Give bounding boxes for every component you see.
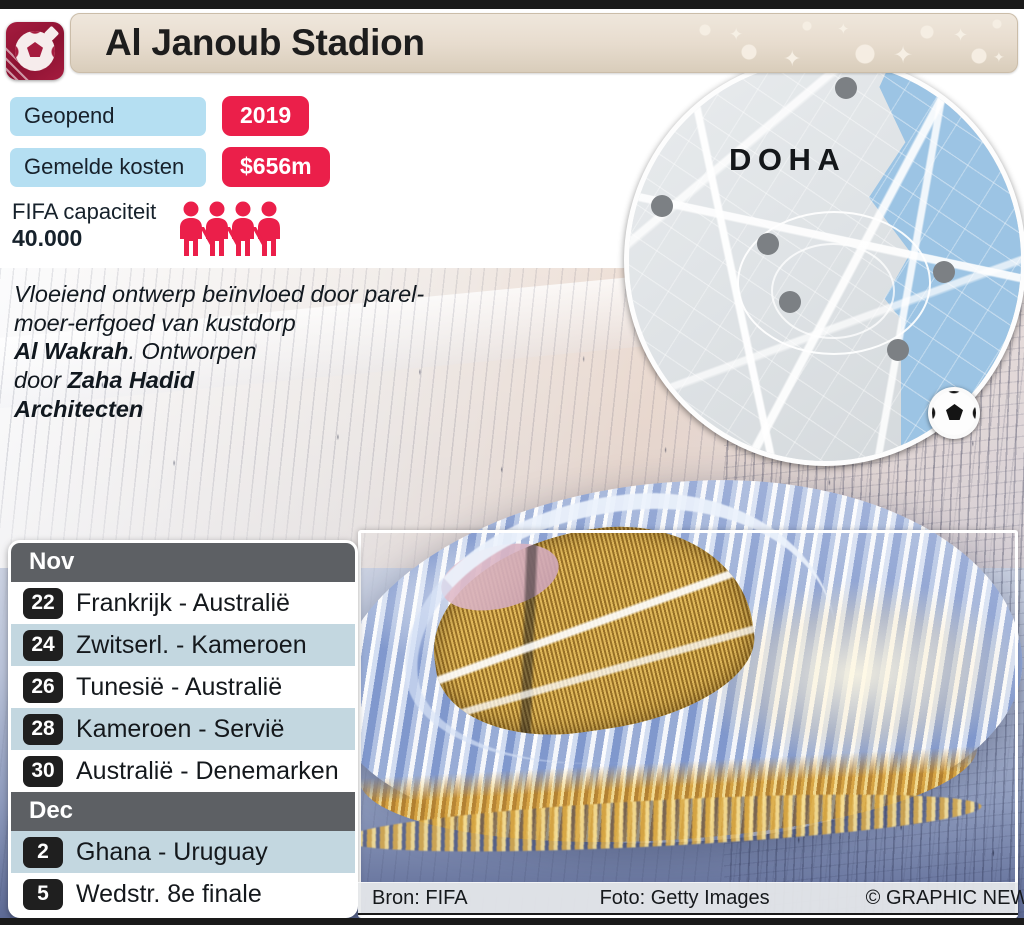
match-day-badge: 24 [23, 630, 63, 661]
match-fixture: Tunesië - Australië [76, 673, 282, 702]
credits-bar: Bron: FIFA Foto: Getty Images © GRAPHIC … [358, 882, 1018, 915]
page-title: Al Janoub Stadion [105, 14, 425, 72]
match-day-badge: 2 [23, 837, 63, 868]
fact-label: Geopend [10, 97, 206, 136]
capacity-label: FIFA capaciteit [12, 199, 156, 225]
table-row[interactable]: 22 Frankrijk - Australië [11, 582, 355, 624]
month-header-nov: Nov [11, 543, 355, 582]
description-architect-2: Architecten [14, 396, 143, 422]
map-stadium-dot[interactable] [757, 233, 779, 255]
description-architect: Zaha Hadid [68, 367, 195, 393]
match-fixture: Wedstr. 8e finale [76, 880, 262, 909]
header-decoration: ✦ ✦ ✦ ✦ ✦ ✦ [687, 14, 1017, 72]
match-fixture: Australië - Denemarken [76, 757, 339, 786]
month-header-dec: Dec [11, 792, 355, 831]
star-icon: ✦ [729, 26, 743, 43]
table-row[interactable]: 2 Ghana - Uruguay [11, 831, 355, 873]
match-day-badge: 22 [23, 588, 63, 619]
fact-value: $656m [222, 147, 330, 187]
table-row[interactable]: 5 Wedstr. 8e finale [11, 873, 355, 915]
capacity-block: FIFA capaciteit 40.000 [12, 199, 620, 262]
match-schedule-panel: Nov 22 Frankrijk - Australië 24 Zwitserl… [8, 540, 358, 918]
fact-row-opened: Geopend 2019 [10, 96, 620, 136]
fact-row-cost: Gemelde kosten $656m [10, 147, 620, 187]
top-rule [0, 0, 1024, 9]
match-day-badge: 28 [23, 714, 63, 745]
star-icon: ✦ [953, 26, 968, 44]
fact-label: Gemelde kosten [10, 148, 206, 187]
match-fixture: Zwitserl. - Kameroen [76, 631, 307, 660]
star-icon: ✦ [837, 22, 850, 37]
match-fixture: Kameroen - Servië [76, 715, 284, 744]
description-village: Al Wakrah [14, 338, 129, 364]
soccer-ball-marker-icon[interactable] [928, 387, 980, 439]
star-icon: ✦ [993, 50, 1005, 64]
map-stadium-dot[interactable] [779, 291, 801, 313]
qatar-football-logo-icon [6, 22, 64, 80]
people-group-icon [178, 201, 282, 262]
match-day-badge: 5 [23, 879, 63, 910]
soccer-ball-shape [932, 391, 976, 435]
map-city-label: DOHA [729, 142, 846, 178]
bottom-rule [0, 918, 1024, 925]
infographic-root: ✦ ✦ ✦ ✦ ✦ ✦ Al Janoub Stadion Geopend 20… [0, 0, 1024, 925]
source-credit: Bron: FIFA [372, 887, 468, 910]
table-row[interactable]: 26 Tunesië - Australië [11, 666, 355, 708]
map-stadium-dot[interactable] [651, 195, 673, 217]
match-fixture: Frankrijk - Australië [76, 589, 290, 618]
star-icon: ✦ [783, 48, 801, 70]
match-day-badge: 30 [23, 756, 63, 787]
table-row[interactable]: 24 Zwitserl. - Kameroen [11, 624, 355, 666]
fact-value: 2019 [222, 96, 309, 136]
capacity-value: 40.000 [12, 225, 82, 251]
header-bar: ✦ ✦ ✦ ✦ ✦ ✦ Al Janoub Stadion [70, 13, 1018, 73]
match-day-badge: 26 [23, 672, 63, 703]
photo-credit: Foto: Getty Images [600, 887, 770, 910]
star-icon: ✦ [893, 44, 913, 68]
description-line-2: moer-erfgoed van kustdorp [14, 310, 296, 336]
info-panel: Geopend 2019 Gemelde kosten $656m FIFA c… [0, 96, 620, 423]
map-stadium-dot[interactable] [887, 339, 909, 361]
capacity-text: FIFA capaciteit 40.000 [12, 199, 156, 251]
description-text: Vloeiend ontwerp beïnvloed door parel- m… [14, 280, 494, 423]
match-fixture: Ghana - Uruguay [76, 838, 268, 867]
doha-map-inset[interactable]: DOHA [624, 56, 1024, 466]
header: ✦ ✦ ✦ ✦ ✦ ✦ Al Janoub Stadion [0, 9, 1024, 81]
description-line-1: Vloeiend ontwerp beïnvloed door parel- [14, 281, 424, 307]
description-line-3-rest: . Ontworpen [129, 338, 257, 364]
table-row[interactable]: 28 Kameroen - Servië [11, 708, 355, 750]
description-line-4-rest: door [14, 367, 68, 393]
copyright-credit: © GRAPHIC NEWS [866, 887, 1024, 910]
map-stadium-dot[interactable] [933, 261, 955, 283]
table-row[interactable]: 30 Australië - Denemarken [11, 750, 355, 792]
